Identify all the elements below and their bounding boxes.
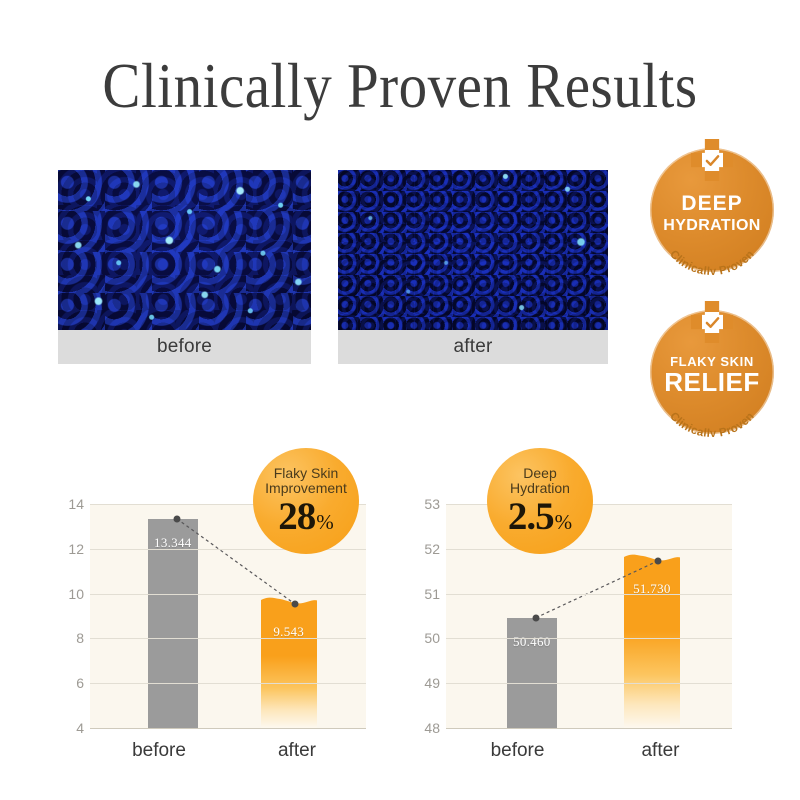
gridline: [90, 683, 366, 684]
gridline: [446, 683, 732, 684]
data-point-after: [291, 600, 298, 607]
chart-deep-hydration: 53 52 51 50 49 48 50.460 51.730 Deep Hyd…: [412, 490, 732, 780]
y-axis-tick: 50: [424, 630, 440, 646]
micrograph-caption-before: before: [58, 330, 311, 364]
callout-percent-number: 28: [278, 497, 315, 536]
micrograph-image-after: [338, 170, 608, 330]
y-axis-tick: 48: [424, 720, 440, 736]
y-axis-tick: 51: [424, 586, 440, 602]
trend-connector: [446, 504, 732, 728]
y-axis-tick: 10: [68, 586, 84, 602]
gridline: [446, 638, 732, 639]
y-axis-tick: 14: [68, 496, 84, 512]
x-axis-labels: before after: [446, 740, 732, 762]
gridline: [446, 594, 732, 595]
bar-after: 51.730: [624, 561, 680, 728]
micrograph-panel-after: after: [338, 170, 608, 364]
callout-percent-symbol: %: [316, 512, 334, 533]
x-axis-label-after: after: [228, 740, 366, 762]
seal-line1: DEEP: [681, 193, 742, 214]
seal-badge-flaky-skin-relief: FLAKY SKIN RELIEF Clinically Proven: [650, 310, 774, 434]
seal-line2: HYDRATION: [663, 218, 761, 234]
gridline: [90, 638, 366, 639]
data-point-before: [532, 614, 539, 621]
x-axis-labels: before after: [90, 740, 366, 762]
bar-before: 13.344: [148, 519, 198, 728]
fluorescence-texture-before: [58, 170, 311, 330]
callout-deep-hydration: Deep Hydration 2.5%: [487, 448, 593, 554]
callout-caption-line1: Deep: [523, 466, 556, 481]
gridline: [446, 549, 732, 550]
y-axis-tick: 52: [424, 541, 440, 557]
gridline: [90, 728, 366, 729]
callout-percent: 2.5%: [508, 497, 572, 536]
callout-percent-symbol: %: [555, 512, 573, 533]
chart-flaky-skin-improvement: 14 12 10 8 6 4 13.344 9.543 Flaky Skin I…: [56, 490, 366, 780]
micrograph-panel-before: before: [58, 170, 311, 364]
bar-before: 50.460: [507, 618, 557, 728]
y-axis-tick: 8: [76, 630, 84, 646]
data-point-before: [173, 515, 180, 522]
callout-percent: 28%: [278, 497, 334, 536]
y-axis-tick: 6: [76, 675, 84, 691]
seal-text: FLAKY SKIN RELIEF: [650, 310, 774, 434]
seal-line2: RELIEF: [664, 369, 759, 395]
seal-badge-deep-hydration: DEEP HYDRATION Clinically Proven: [650, 148, 774, 272]
bar-after: 9.543: [261, 604, 317, 728]
x-axis-label-before: before: [90, 740, 228, 762]
y-axis-tick: 53: [424, 496, 440, 512]
micrograph-image-before: [58, 170, 311, 330]
plot-area: 53 52 51 50 49 48 50.460 51.730: [446, 504, 732, 728]
y-axis-tick: 49: [424, 675, 440, 691]
x-axis-label-before: before: [446, 740, 589, 762]
x-axis-label-after: after: [589, 740, 732, 762]
gridline: [446, 728, 732, 729]
y-axis-tick: 12: [68, 541, 84, 557]
fluorescence-texture-after: [338, 170, 608, 330]
callout-caption-line1: Flaky Skin: [274, 466, 339, 481]
bar-wave-top: [624, 554, 680, 563]
y-axis-tick: 4: [76, 720, 84, 736]
seal-text: DEEP HYDRATION: [650, 148, 774, 272]
micrograph-caption-after: after: [338, 330, 608, 364]
page-title: Clinically Proven Results: [0, 52, 800, 121]
callout-caption-line2: Improvement: [265, 481, 347, 496]
callout-percent-number: 2.5: [508, 497, 554, 536]
data-point-after: [654, 557, 661, 564]
bar-wave-top: [261, 597, 317, 606]
callout-caption-line2: Hydration: [510, 481, 570, 496]
bar-value-label: 50.460: [507, 634, 557, 650]
clinical-results-infographic: Clinically Proven Results before after D…: [0, 0, 800, 800]
callout-flaky-skin-improvement: Flaky Skin Improvement 28%: [253, 448, 359, 554]
gridline: [90, 594, 366, 595]
